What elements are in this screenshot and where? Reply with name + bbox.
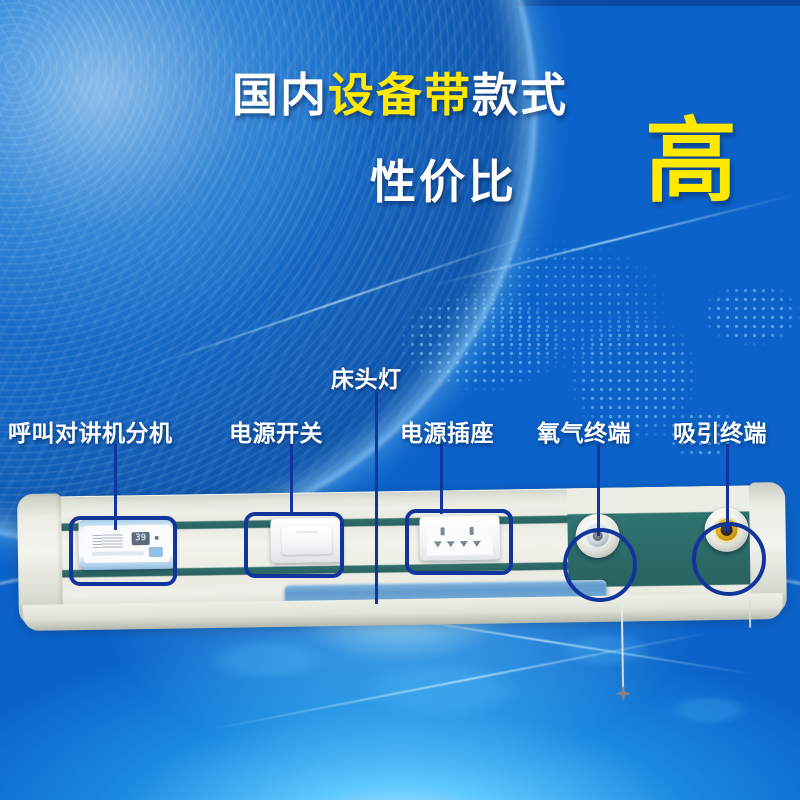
socket-face	[426, 521, 493, 556]
intercom-call-button[interactable]	[149, 547, 163, 557]
suction-hose-cord	[749, 598, 751, 628]
intercom-display: 39	[132, 532, 150, 545]
callout-label-suction: 吸引终端	[673, 414, 767, 448]
socket-pin-hole	[470, 527, 474, 535]
intercom-slot	[92, 551, 144, 556]
speaker-grille-icon	[93, 534, 123, 547]
headline-part-2: 设备带	[328, 69, 472, 121]
callout-label-power-socket: 电源插座	[400, 414, 494, 448]
leader-line-power-switch	[290, 444, 293, 516]
poster-canvas: 国内设备带款式 性价比 高 呼叫对讲机分机 电源开关 床头灯 电源插座 氧气终端…	[0, 0, 800, 800]
headline-subtext: 性价比	[370, 146, 517, 212]
headline-part-3: 款式	[472, 69, 568, 121]
leader-line-suction	[726, 444, 729, 532]
status-led-icon	[155, 536, 159, 540]
power-switch[interactable]	[270, 518, 343, 563]
socket-prong-icon	[447, 541, 455, 547]
pull-cord-handle[interactable]	[615, 685, 631, 701]
socket-pin-hole	[441, 527, 445, 535]
leader-line-oxygen	[597, 444, 600, 536]
power-socket[interactable]	[419, 515, 500, 560]
headline-part-1: 国内	[232, 69, 328, 121]
callout-label-oxygen: 氧气终端	[537, 414, 631, 448]
rocker-toggle[interactable]	[282, 526, 332, 555]
leader-line-intercom	[114, 444, 117, 530]
leader-line-power-socket	[440, 444, 443, 514]
bed-head-unit-panel: 39	[21, 485, 783, 623]
callout-label-intercom: 呼叫对讲机分机	[8, 414, 173, 448]
socket-prong-icon	[434, 541, 442, 547]
intercom-face: 39	[83, 525, 170, 563]
callout-label-power-switch: 电源开关	[229, 414, 323, 448]
socket-prong-icon	[460, 541, 468, 547]
intercom-unit[interactable]: 39	[78, 517, 175, 571]
headline-block: 国内设备带款式 性价比 高	[0, 72, 800, 220]
callout-label-bed-lamp: 床头灯	[331, 360, 402, 394]
headline-line-2: 性价比 高	[0, 140, 800, 220]
leader-line-bed-lamp	[375, 392, 378, 604]
headline-emphasis: 高	[645, 116, 737, 208]
socket-prong-icon	[473, 541, 481, 547]
